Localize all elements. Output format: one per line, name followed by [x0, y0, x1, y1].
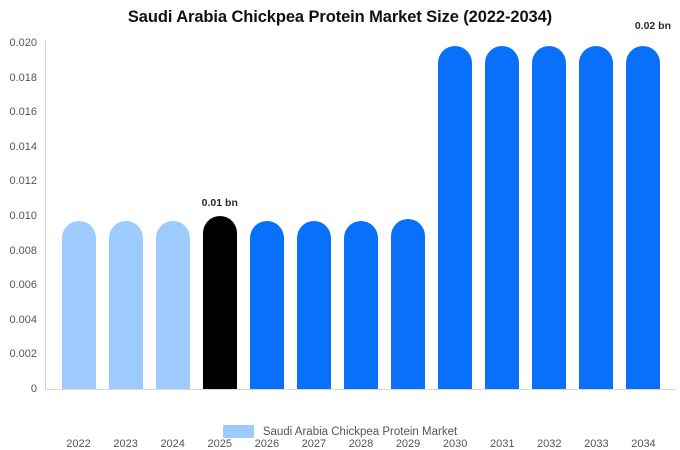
- bar[interactable]: [156, 221, 190, 389]
- bar[interactable]: [438, 46, 472, 389]
- x-tick-label: 2032: [532, 438, 566, 450]
- y-tick-label: 0.002: [9, 348, 37, 360]
- legend-swatch: [223, 425, 254, 438]
- bar[interactable]: [485, 46, 519, 389]
- plot-area: 00.0020.0040.0060.0080.0100.0120.0140.01…: [45, 43, 675, 389]
- y-tick-label: 0.008: [9, 245, 37, 257]
- bar[interactable]: [203, 216, 237, 389]
- chart-legend: Saudi Arabia Chickpea Protein Market: [0, 425, 680, 438]
- x-tick-label: 2026: [250, 438, 284, 450]
- x-tick-label: 2025: [203, 438, 237, 450]
- x-tick-label: 2022: [62, 438, 96, 450]
- bar[interactable]: [297, 221, 331, 389]
- chart-container: Saudi Arabia Chickpea Protein Market Siz…: [0, 0, 680, 450]
- corner-value-label: 0.02 bn: [635, 20, 671, 32]
- y-tick-label: 0.014: [9, 141, 37, 153]
- x-tick-label: 2024: [156, 438, 190, 450]
- x-axis-line: [45, 389, 676, 390]
- bar[interactable]: [579, 46, 613, 389]
- x-tick-label: 2023: [109, 438, 143, 450]
- bar-value-label: 0.01 bn: [202, 197, 238, 209]
- x-tick-label: 2028: [344, 438, 378, 450]
- x-tick-label: 2033: [579, 438, 613, 450]
- bar[interactable]: [391, 219, 425, 389]
- bar[interactable]: [344, 221, 378, 389]
- y-tick-label: 0: [31, 383, 37, 395]
- bar[interactable]: [62, 221, 96, 389]
- x-tick-label: 2034: [626, 438, 660, 450]
- x-tick-label: 2027: [297, 438, 331, 450]
- y-tick-label: 0.018: [9, 72, 37, 84]
- bar[interactable]: [109, 221, 143, 389]
- bar-series: 0.01 bn: [45, 43, 675, 389]
- y-tick-label: 0.012: [9, 175, 37, 187]
- chart-title: Saudi Arabia Chickpea Protein Market Siz…: [0, 8, 680, 27]
- y-tick-label: 0.004: [9, 314, 37, 326]
- bar[interactable]: [626, 46, 660, 389]
- y-tick-label: 0.020: [9, 37, 37, 49]
- y-tick-label: 0.010: [9, 210, 37, 222]
- x-tick-label: 2030: [438, 438, 472, 450]
- y-tick-label: 0.016: [9, 106, 37, 118]
- bar[interactable]: [532, 46, 566, 389]
- x-tick-label: 2031: [485, 438, 519, 450]
- bar[interactable]: [250, 221, 284, 389]
- y-tick-label: 0.006: [9, 279, 37, 291]
- x-tick-label: 2029: [391, 438, 425, 450]
- legend-label: Saudi Arabia Chickpea Protein Market: [263, 426, 457, 438]
